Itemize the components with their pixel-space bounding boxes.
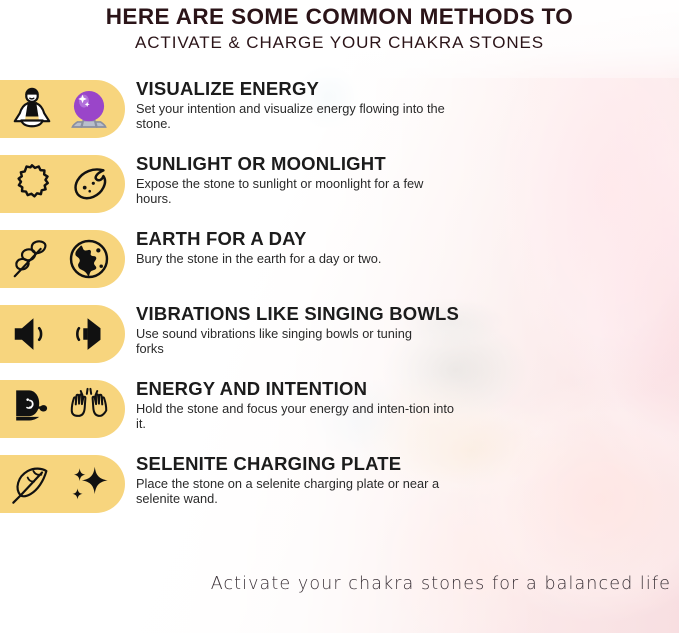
- method-description: Expose the stone to sunlight or moonligh…: [136, 176, 458, 206]
- leaf-branch-icon: [9, 236, 55, 282]
- method-title: VISUALIZE ENERGY: [136, 78, 673, 100]
- method-description: Place the stone on a selenite charging p…: [136, 476, 458, 506]
- method-text: VIBRATIONS LIKE SINGING BOWLS Use sound …: [136, 303, 673, 356]
- poster-footer: Activate your chakra stones for a balanc…: [0, 574, 671, 594]
- footer-tagline: Activate your chakra stones for a balanc…: [211, 574, 671, 594]
- icon-pill: [0, 455, 125, 513]
- icon-pill: [0, 155, 125, 213]
- infographic-poster: HERE ARE SOME COMMON METHODS TO ACTIVATE…: [0, 0, 679, 633]
- speaker-vibration-icon: [66, 311, 112, 357]
- method-row: VIBRATIONS LIKE SINGING BOWLS Use sound …: [0, 303, 679, 378]
- method-title: ENERGY AND INTENTION: [136, 378, 673, 400]
- method-row: SUNLIGHT OR MOONLIGHT Expose the stone t…: [0, 153, 679, 228]
- face-breathing-icon: [9, 386, 55, 432]
- method-row: ENERGY AND INTENTION Hold the stone and …: [0, 378, 679, 453]
- crystal-ball-icon: [66, 86, 112, 132]
- page-subtitle: ACTIVATE & CHARGE YOUR CHAKRA STONES: [0, 32, 679, 54]
- page-title: HERE ARE SOME COMMON METHODS TO: [0, 4, 679, 30]
- icon-pill: [0, 305, 125, 363]
- method-text: SUNLIGHT OR MOONLIGHT Expose the stone t…: [136, 153, 673, 206]
- method-title: SELENITE CHARGING PLATE: [136, 453, 673, 475]
- globe-earth-icon: [66, 236, 112, 282]
- method-description: Use sound vibrations like singing bowls …: [136, 326, 436, 356]
- method-row: VISUALIZE ENERGY Set your intention and …: [0, 78, 679, 153]
- methods-list: VISUALIZE ENERGY Set your intention and …: [0, 78, 679, 528]
- icon-pill: [0, 230, 125, 288]
- poster-header: HERE ARE SOME COMMON METHODS TO ACTIVATE…: [0, 4, 679, 54]
- method-title: SUNLIGHT OR MOONLIGHT: [136, 153, 673, 175]
- method-description: Hold the stone and focus your energy and…: [136, 401, 458, 431]
- speaker-sound-icon: [9, 311, 55, 357]
- meditating-person-icon: [9, 86, 55, 132]
- feather-quill-icon: [9, 461, 55, 507]
- method-text: SELENITE CHARGING PLATE Place the stone …: [136, 453, 673, 506]
- method-title: EARTH FOR A DAY: [136, 228, 673, 250]
- method-row: SELENITE CHARGING PLATE Place the stone …: [0, 453, 679, 528]
- method-text: EARTH FOR A DAY Bury the stone in the ea…: [136, 228, 673, 266]
- raised-hands-icon: [66, 386, 112, 432]
- method-text: VISUALIZE ENERGY Set your intention and …: [136, 78, 673, 131]
- crescent-moon-icon: [66, 161, 112, 207]
- sun-icon: [9, 161, 55, 207]
- method-description: Bury the stone in the earth for a day or…: [136, 251, 458, 266]
- method-description: Set your intention and visualize energy …: [136, 101, 458, 131]
- sparkles-icon: [66, 461, 112, 507]
- method-title: VIBRATIONS LIKE SINGING BOWLS: [136, 303, 673, 325]
- icon-pill: [0, 80, 125, 138]
- method-text: ENERGY AND INTENTION Hold the stone and …: [136, 378, 673, 431]
- icon-pill: [0, 380, 125, 438]
- method-row: EARTH FOR A DAY Bury the stone in the ea…: [0, 228, 679, 303]
